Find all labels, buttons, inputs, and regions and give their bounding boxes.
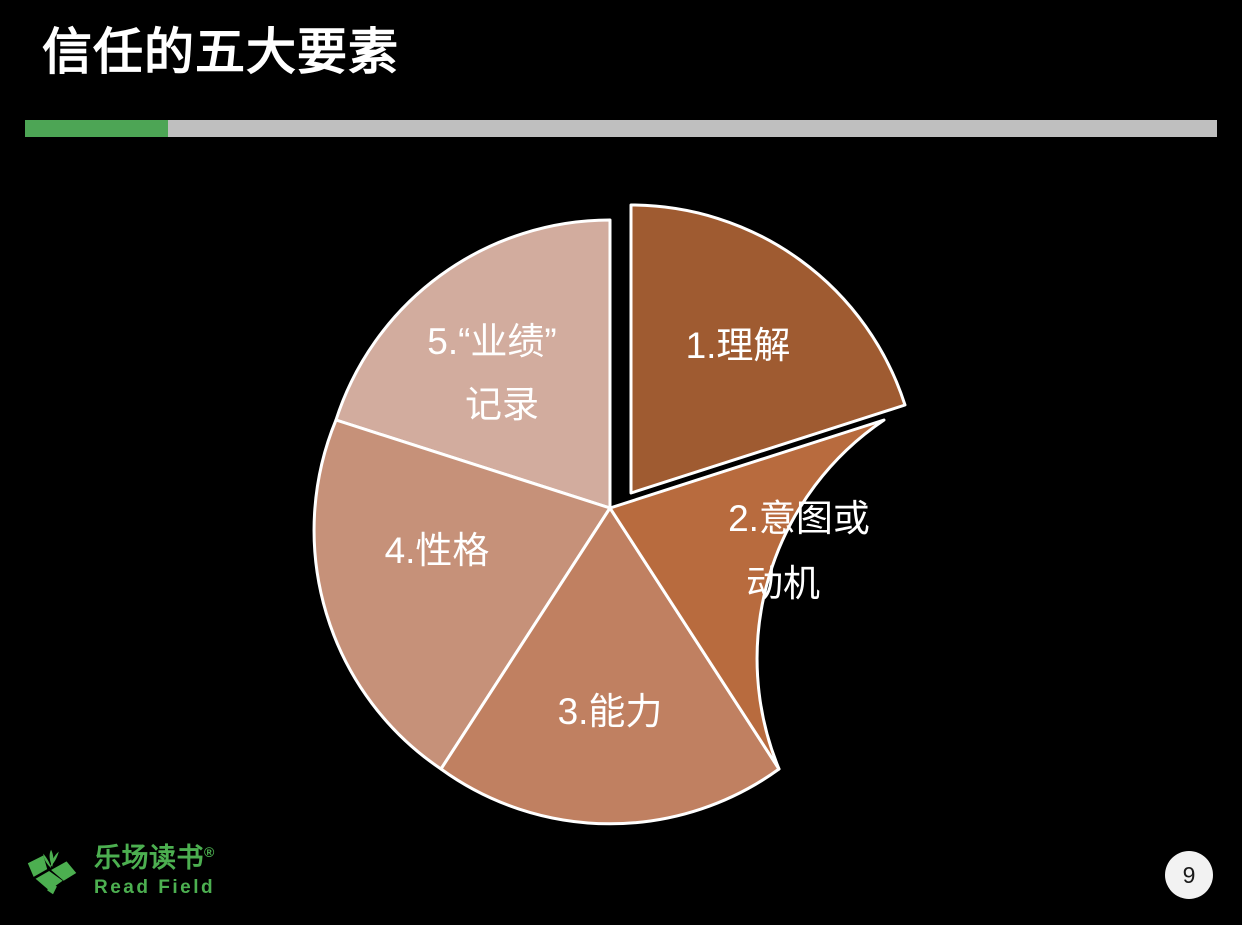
brand-logo-text: 乐场读书® Read Field [94,845,215,897]
book-leaf-icon [22,840,84,902]
pie-chart: 1.理解 2.意图或 动机 3.能力 4.性格 5.“业绩” 记录 [0,0,1242,925]
pie-chart-svg: 1.理解 2.意图或 动机 3.能力 4.性格 5.“业绩” 记录 [0,0,1242,925]
page-number-value: 9 [1183,862,1196,889]
pie-slice-5-label-line2: 记录 [465,384,539,425]
brand-name-cn: 乐场读书® [94,845,215,872]
brand-name-cn-text: 乐场读书 [94,843,204,873]
slide-canvas: 信任的五大要素 1.理解 2.意图或 动机 3.能力 4.性格 5.“业绩” [0,0,1242,925]
pie-slice-3-label: 3.能力 [558,691,663,732]
pie-slice-4-label: 4.性格 [385,530,490,571]
pie-slice-1-label: 1.理解 [686,325,791,366]
pie-slice-2-label-line2: 动机 [746,563,820,604]
pie-slice-2-label-line1: 2.意图或 [728,498,870,539]
brand-name-en: Read Field [94,878,215,897]
page-number-badge: 9 [1165,851,1213,899]
pie-slice-5-label-line1: 5.“业绩” [427,321,557,362]
registered-trademark-icon: ® [204,844,215,860]
brand-logo: 乐场读书® Read Field [22,840,215,902]
